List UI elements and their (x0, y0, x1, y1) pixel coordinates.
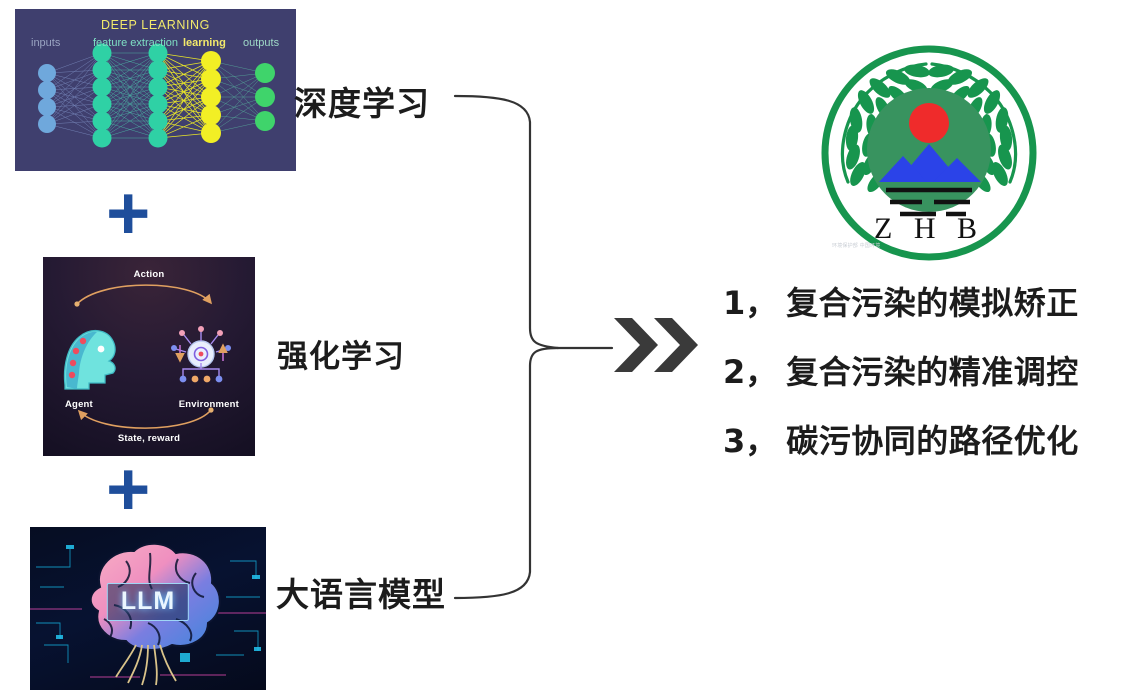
outcome-text-3: 碳污协同的路径优化 (786, 416, 1079, 462)
logo-watermark: 环境保护部 中国环境 (832, 243, 880, 249)
reinforcement-learning-image: Action Agent Environment State, reward (43, 257, 255, 456)
dl-caption-outputs: outputs (243, 37, 279, 49)
sun-icon (909, 103, 949, 143)
llm-badge: LLM (107, 583, 189, 621)
outcome-number-1: 1， (723, 278, 777, 324)
outcome-item-2: 2， 复合污染的精准调控 (723, 347, 1123, 393)
dl-caption-feature-extraction: feature extraction (93, 37, 178, 49)
outcome-list: 1， 复合污染的模拟矫正 2， 复合污染的精准调控 3， 碳污协同的路径优化 (723, 278, 1123, 485)
neural-network-graphic (15, 9, 296, 171)
plus-operator-2: + (106, 452, 150, 528)
zhb-text: Z H B (874, 212, 984, 245)
deep-learning-title: DEEP LEARNING (15, 18, 296, 32)
plus-operator-1: + (106, 176, 150, 252)
zhb-environmental-protection-emblem: Z H B (818, 42, 1040, 264)
rl-loop-graphic (43, 257, 255, 456)
rl-caption-action: Action (43, 269, 255, 280)
label-large-language-model: 大语言模型 (276, 568, 446, 616)
brace-connector (440, 70, 620, 630)
outcome-text-1: 复合污染的模拟矫正 (786, 278, 1079, 324)
label-deep-learning: 深度学习 (294, 77, 430, 125)
rl-caption-agent: Agent (65, 399, 93, 410)
outcome-item-1: 1， 复合污染的模拟矫正 (723, 278, 1123, 324)
outcome-number-2: 2， (723, 347, 777, 393)
double-chevron-arrow (612, 314, 698, 376)
rl-caption-state-reward: State, reward (43, 433, 255, 444)
label-reinforcement-learning: 强化学习 (277, 331, 405, 376)
outcome-item-3: 3， 碳污协同的路径优化 (723, 416, 1123, 462)
dl-caption-learning: learning (183, 37, 226, 49)
dl-caption-inputs: inputs (31, 37, 60, 49)
llm-image: LLM (30, 527, 266, 690)
outcome-text-2: 复合污染的精准调控 (786, 347, 1079, 393)
slide-canvas: DEEP LEARNING inputs feature extraction … (0, 0, 1131, 690)
rl-caption-environment: Environment (179, 399, 239, 410)
deep-learning-image: DEEP LEARNING inputs feature extraction … (15, 9, 296, 171)
outcome-number-3: 3， (723, 416, 777, 462)
